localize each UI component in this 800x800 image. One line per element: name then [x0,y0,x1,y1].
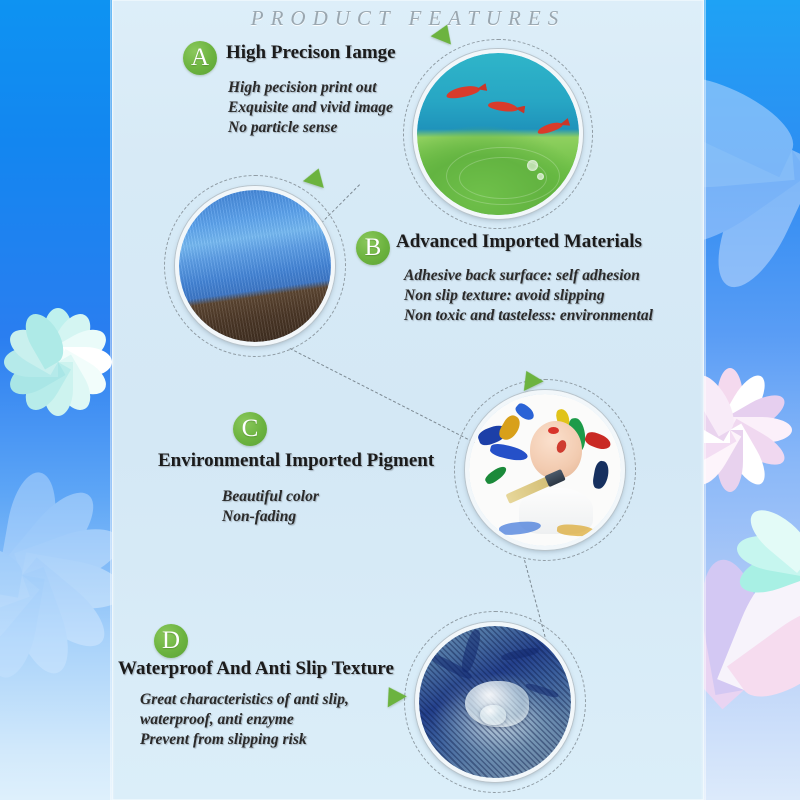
feature-line: Adhesive back surface: self adhesion [404,266,653,286]
feature-line: Exquisite and vivid image [228,98,393,118]
feature-body-a: High pecision print out Exquisite and vi… [228,78,393,138]
panel-right-edge-highlight [700,0,706,800]
feature-badge-b: B [356,231,390,265]
feature-line: Great characteristics of anti slip, [140,690,349,710]
panel-left-edge-highlight [110,0,115,800]
feature-line: No particle sense [228,118,393,138]
water-droplet [480,705,506,725]
left-decorative-band [0,0,112,800]
painting-baby-photo [465,390,625,550]
right-decorative-band [704,0,800,800]
feature-line: Beautiful color [222,487,319,507]
feature-body-d: Great characteristics of anti slip, wate… [140,690,349,750]
feature-line: Non slip texture: avoid slipping [404,286,653,306]
feature-body-b: Adhesive back surface: self adhesion Non… [404,266,653,326]
feature-badge-c: C [233,412,267,446]
feature-heading-b: Advanced Imported Materials [396,231,642,253]
feature-line: waterproof, anti enzyme [140,710,349,730]
water-droplet-texture-photo [415,622,575,782]
page-title: PRODUCT FEATURES [112,6,704,31]
feature-line: High pecision print out [228,78,393,98]
feature-heading-c: Environmental Imported Pigment [158,450,434,472]
feature-line: Prevent from slipping risk [140,730,349,750]
feature-line: Non toxic and tasteless: environmental [404,306,653,326]
feature-badge-a: A [183,41,217,75]
feature-line: Non-fading [222,507,319,527]
infographic-page: PRODUCT FEATURES A High Precison Iamge H… [0,0,800,800]
feature-body-c: Beautiful color Non-fading [222,487,319,527]
feature-heading-a: High Precison Iamge [226,42,396,64]
feature-badge-d: D [154,624,188,658]
koi-pond-print-photo [413,49,583,219]
blue-fabric-material-photo [175,186,335,346]
feature-heading-d: Waterproof And Anti Slip Texture [118,658,394,680]
